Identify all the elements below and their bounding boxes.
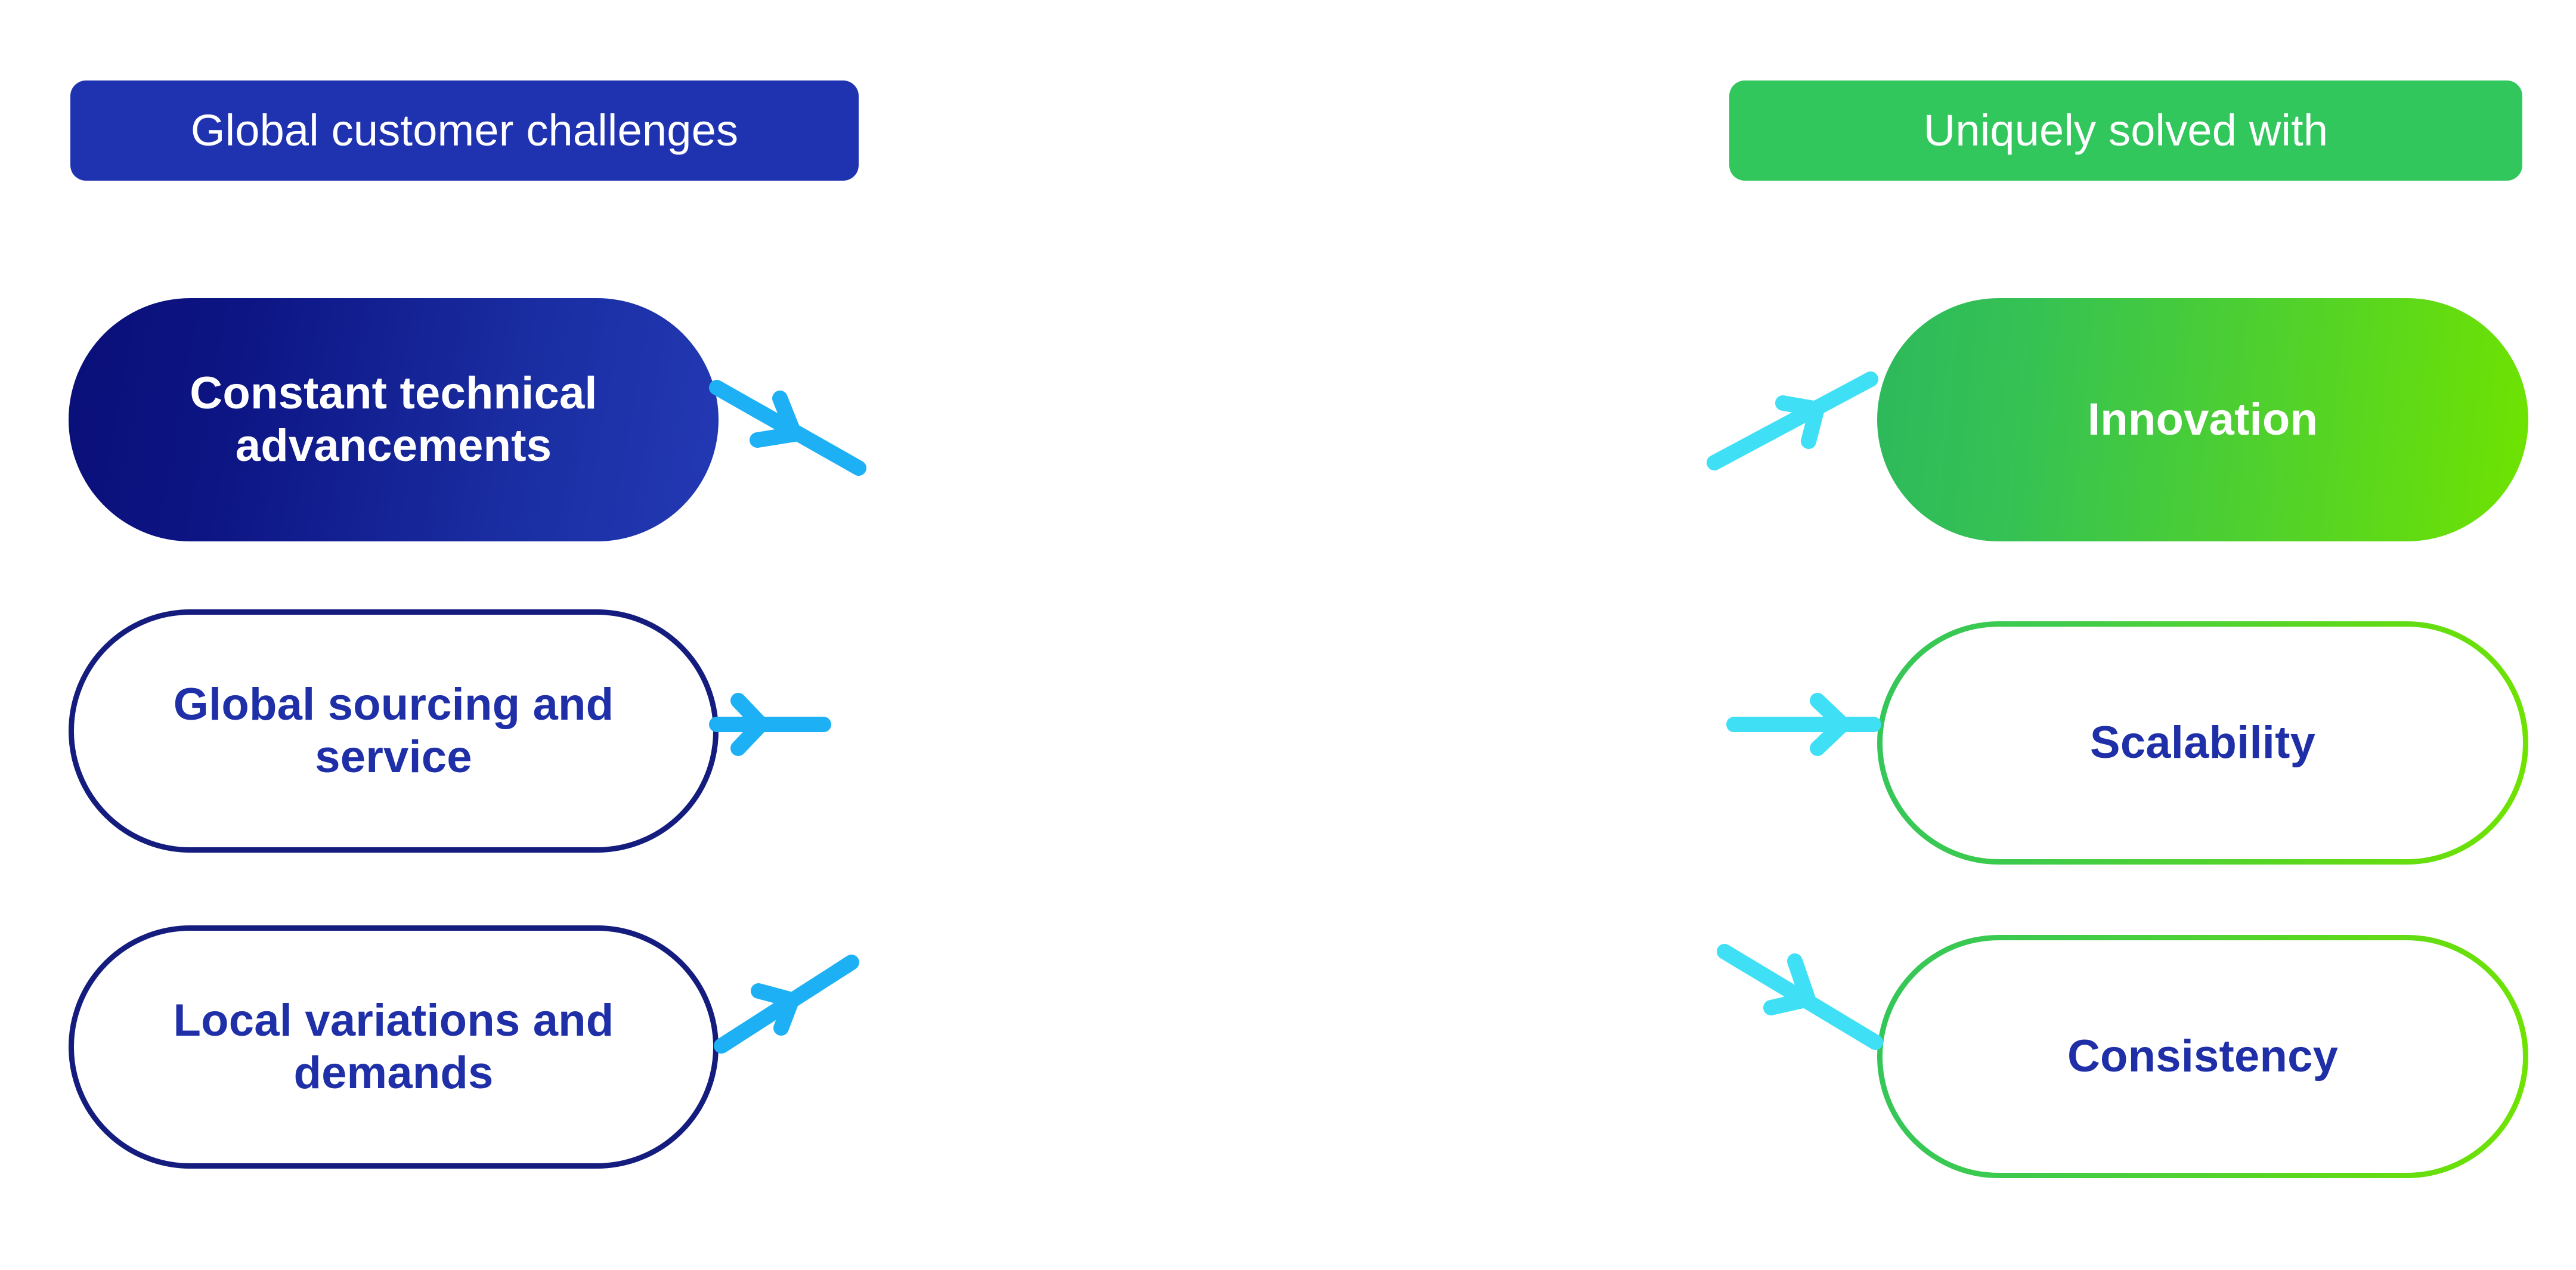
challenge-pill-global-sourcing-and-service[interactable]: Global sourcing and service	[69, 609, 719, 853]
header-banner-solutions: Uniquely solved with	[1729, 80, 2522, 181]
solution-pill-consistency[interactable]: Consistency	[1877, 935, 2528, 1178]
solution-pill-label: Consistency	[2044, 1030, 2362, 1083]
solution-pill-innovation[interactable]: Innovation	[1877, 298, 2528, 541]
connector-right-arrow-up-right	[1702, 374, 1881, 494]
solution-pill-label: Scalability	[2066, 717, 2339, 769]
challenge-pill-label: Global sourcing and service	[74, 679, 713, 783]
header-banner-solutions-label: Uniquely solved with	[1924, 106, 2329, 154]
solution-pill-label: Innovation	[2064, 394, 2342, 446]
challenge-pill-local-variations-and-demands[interactable]: Local variations and demands	[69, 925, 719, 1169]
connector-right-arrow-right	[1729, 689, 1884, 760]
connector-left-arrow-right	[713, 689, 862, 760]
connector-right-arrow-down-right	[1717, 942, 1896, 1061]
challenge-pill-label: Constant technical advancements	[69, 367, 719, 472]
connector-left-arrow-up-right	[716, 937, 894, 1057]
diagram-canvas: Global customer challenges Uniquely solv…	[0, 0, 2576, 1270]
header-banner-challenges: Global customer challenges	[70, 80, 859, 181]
header-banner-challenges-label: Global customer challenges	[191, 106, 738, 154]
connector-left-arrow-down-right	[710, 376, 888, 495]
challenge-pill-label: Local variations and demands	[74, 995, 713, 1099]
solution-pill-scalability[interactable]: Scalability	[1877, 621, 2528, 865]
challenge-pill-constant-technical-advancements[interactable]: Constant technical advancements	[69, 298, 719, 541]
